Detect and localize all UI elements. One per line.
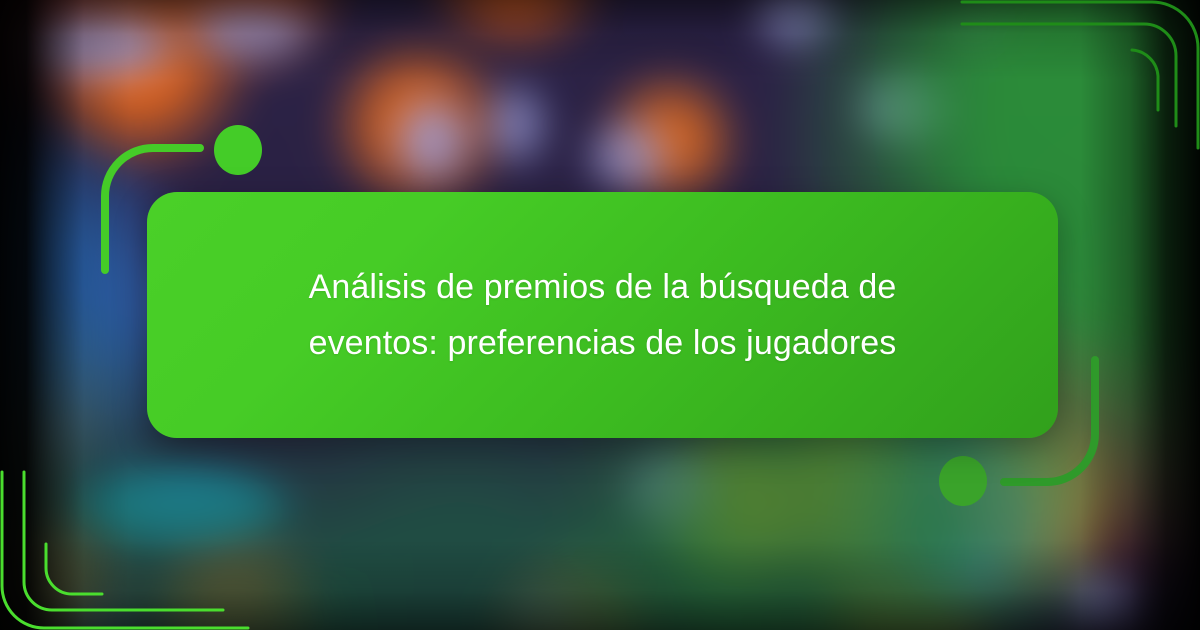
social-card-canvas: Análisis de premios de la búsqueda de ev… <box>0 0 1200 630</box>
page-title: Análisis de premios de la búsqueda de ev… <box>253 259 953 371</box>
title-card: Análisis de premios de la búsqueda de ev… <box>147 192 1058 438</box>
